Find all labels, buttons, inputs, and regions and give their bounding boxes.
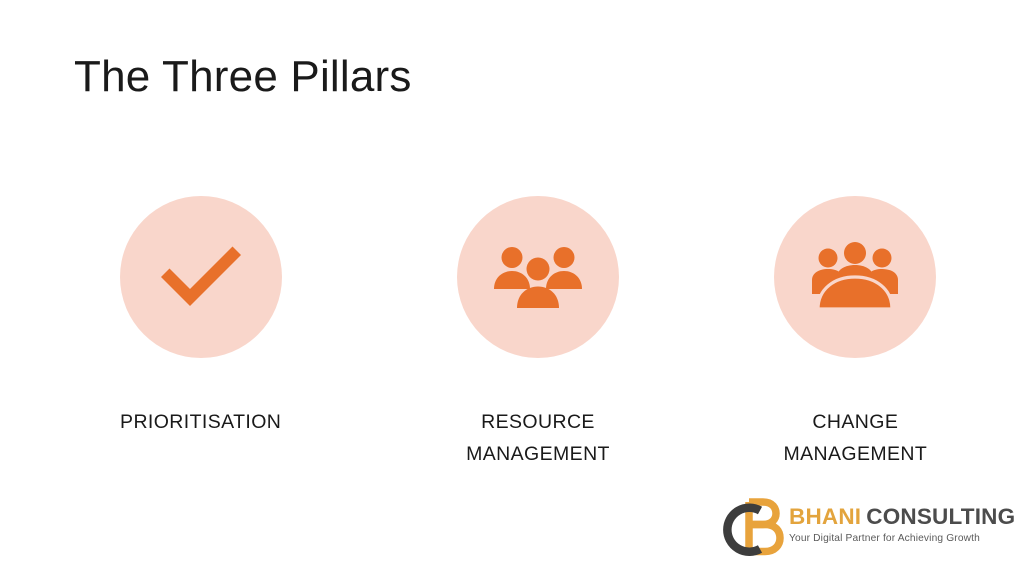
brand-logo: BHANICONSULTING Your Digital Partner for… [719,494,989,556]
slide-canvas: The Three Pillars PRIORITISATION [0,0,1024,576]
pillar-icon-circle [774,196,936,358]
logo-text-block: BHANICONSULTING Your Digital Partner for… [789,506,1015,545]
pillar-change-management: CHANGE MANAGEMENT [687,196,1024,470]
checkmark-icon [153,237,249,317]
group-of-people-icon [492,244,584,310]
cb-monogram-icon [719,494,785,556]
page-title: The Three Pillars [74,52,412,103]
logo-tagline: Your Digital Partner for Achieving Growt… [789,533,1015,544]
pillar-icon-circle [120,196,282,358]
pillar-prioritisation: PRIORITISATION [32,196,369,439]
pillar-label: CHANGE MANAGEMENT [783,407,927,470]
logo-wordmark: BHANICONSULTING [789,506,1015,529]
pillar-label: RESOURCE MANAGEMENT [466,407,610,470]
pillar-label: PRIORITISATION [120,407,281,439]
logo-word-secondary: CONSULTING [866,504,1015,529]
meeting-table-people-icon [806,242,904,312]
logo-word-primary: BHANI [789,504,861,529]
pillar-resource-management: RESOURCE MANAGEMENT [369,196,706,470]
pillar-icon-circle [457,196,619,358]
pillars-row: PRIORITISATION [0,196,1024,470]
